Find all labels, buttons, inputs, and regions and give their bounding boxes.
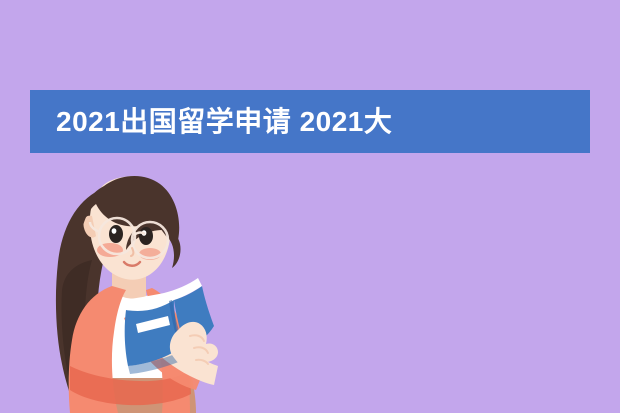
eye-right [139, 227, 153, 245]
page-title: 2021出国留学申请 2021大 [56, 108, 392, 136]
eye-left-highlight [112, 228, 117, 234]
eye-left [109, 225, 123, 243]
title-banner: 2021出国留学申请 2021大 [30, 90, 590, 153]
woman-reading-book-illustration [0, 150, 300, 413]
thumbnail-canvas: 2021出国留学申请 2021大 [0, 0, 620, 413]
